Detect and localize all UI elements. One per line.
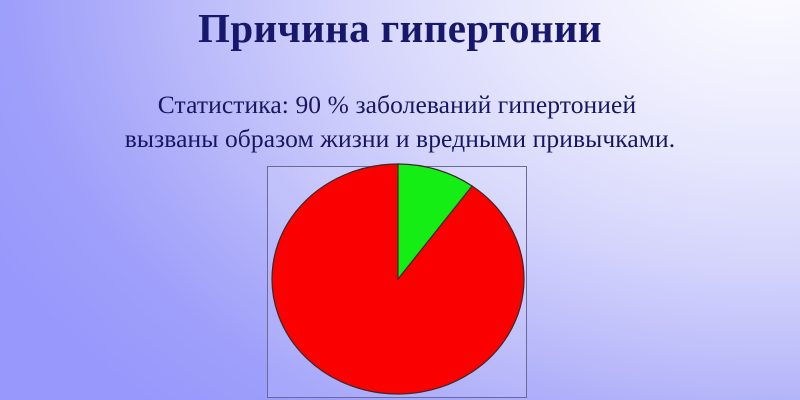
subtitle-text: Статистика: 90 % заболеваний гипертонией… — [0, 88, 800, 156]
subtitle-line-1: Статистика: 90 % заболеваний гипертонией — [0, 88, 800, 122]
pie-chart-svg — [272, 164, 524, 394]
pie-chart — [272, 164, 524, 394]
pie-slice-group — [272, 164, 524, 394]
page-title: Причина гипертонии — [0, 6, 800, 52]
subtitle-line-2: вызваны образом жизни и вредными привычк… — [0, 122, 800, 156]
slide-canvas: Причина гипертонии Статистика: 90 % забо… — [0, 0, 800, 400]
